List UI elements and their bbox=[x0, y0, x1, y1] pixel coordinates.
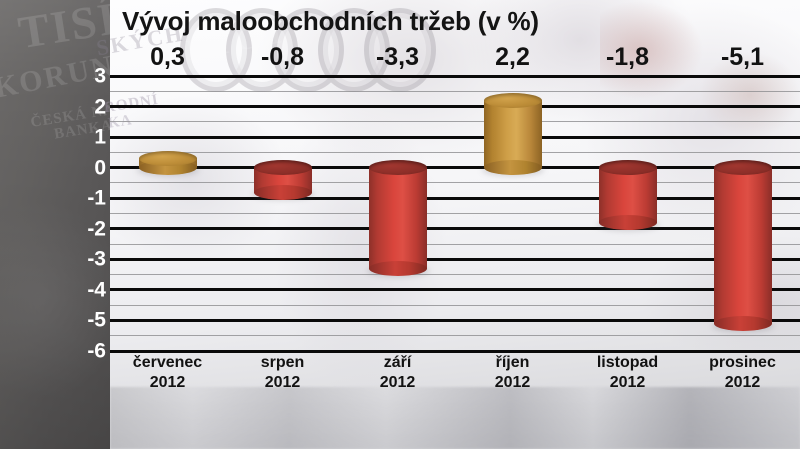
y-axis-tick-label: -1 bbox=[87, 188, 106, 209]
x-axis: červenec2012srpen2012září2012říjen2012li… bbox=[110, 353, 800, 409]
x-axis-category-month: červenec bbox=[133, 354, 202, 371]
bar-shadow bbox=[137, 164, 199, 176]
gridline-major bbox=[110, 319, 800, 322]
bar-cylinder-top-cap bbox=[484, 93, 542, 108]
gridline-major bbox=[110, 105, 800, 108]
bar bbox=[484, 93, 542, 175]
plot-area bbox=[110, 76, 800, 351]
bar-cylinder-bottom-cap bbox=[484, 160, 542, 175]
gridline-major bbox=[110, 197, 800, 200]
bar-shadow bbox=[597, 219, 659, 231]
data-label-row: 0,3-0,8-3,32,2-1,8-5,1 bbox=[110, 41, 800, 73]
x-axis-category-year: 2012 bbox=[110, 373, 225, 393]
x-axis-category: prosinec2012 bbox=[685, 353, 800, 409]
y-axis-tick-label: -3 bbox=[87, 249, 106, 270]
bar-cylinder-bottom-cap bbox=[369, 261, 427, 276]
data-label: -5,1 bbox=[685, 41, 800, 73]
y-axis-tick-label: -5 bbox=[87, 310, 106, 331]
data-label: -0,8 bbox=[225, 41, 340, 73]
bar-slot bbox=[110, 76, 225, 351]
bar-cylinder-body bbox=[369, 167, 427, 269]
bar-cylinder-bottom-cap bbox=[254, 185, 312, 200]
bar bbox=[139, 151, 197, 175]
gridline-major bbox=[110, 258, 800, 261]
bar-slot bbox=[570, 76, 685, 351]
data-label: -3,3 bbox=[340, 41, 455, 73]
y-axis-tick-label: -4 bbox=[87, 279, 106, 300]
bar bbox=[599, 160, 657, 230]
gridline-major bbox=[110, 227, 800, 230]
x-axis-category-month: prosinec bbox=[709, 354, 776, 371]
x-axis-category: srpen2012 bbox=[225, 353, 340, 409]
bar-shadow bbox=[482, 164, 544, 176]
x-axis-category-year: 2012 bbox=[340, 373, 455, 393]
gridline-minor bbox=[110, 213, 800, 214]
x-axis-category: září2012 bbox=[340, 353, 455, 409]
gridline-minor bbox=[110, 335, 800, 336]
gridline-minor bbox=[110, 152, 800, 153]
bar-cylinder-bottom-cap bbox=[599, 215, 657, 230]
bar-slot bbox=[225, 76, 340, 351]
bar bbox=[714, 160, 772, 331]
gridline-major bbox=[110, 166, 800, 169]
data-label: 2,2 bbox=[455, 41, 570, 73]
bar-cylinder-top-cap bbox=[254, 160, 312, 175]
x-axis-category-year: 2012 bbox=[455, 373, 570, 393]
gridline-minor bbox=[110, 182, 800, 183]
x-axis-category: říjen2012 bbox=[455, 353, 570, 409]
bar bbox=[254, 160, 312, 199]
x-axis-category-month: říjen bbox=[496, 354, 530, 371]
bar-cylinder-bottom-cap bbox=[714, 316, 772, 331]
bar-cylinder-body bbox=[484, 100, 542, 168]
bar-shadow bbox=[712, 320, 774, 332]
chart-screenshot: TISÍC KORUN ČESKÝCH ČESKÁ NÁRODNÍ BANKA … bbox=[0, 0, 800, 449]
bar-shadow bbox=[367, 265, 429, 277]
gridline-minor bbox=[110, 305, 800, 306]
gridline-minor bbox=[110, 274, 800, 275]
y-axis-tick-label: 0 bbox=[94, 157, 106, 178]
bar-cylinder-body bbox=[139, 158, 197, 168]
x-axis-category: červenec2012 bbox=[110, 353, 225, 409]
bar-slot bbox=[455, 76, 570, 351]
x-axis-category-year: 2012 bbox=[685, 373, 800, 393]
x-axis-category-month: srpen bbox=[261, 354, 305, 371]
bar-cylinder-top-cap bbox=[139, 151, 197, 166]
bar bbox=[369, 160, 427, 276]
y-axis-tick-label: 2 bbox=[94, 96, 106, 117]
bar-cylinder-bottom-cap bbox=[139, 160, 197, 175]
x-axis-category-month: září bbox=[384, 354, 412, 371]
gridline-minor bbox=[110, 121, 800, 122]
x-axis-category-year: 2012 bbox=[225, 373, 340, 393]
gridline-major bbox=[110, 288, 800, 291]
x-axis-category-year: 2012 bbox=[570, 373, 685, 393]
gridline-minor bbox=[110, 91, 800, 92]
chart-title: Vývoj maloobchodních tržeb (v %) bbox=[122, 6, 539, 37]
data-label: -1,8 bbox=[570, 41, 685, 73]
y-axis-tick-label: 3 bbox=[94, 66, 106, 87]
data-label: 0,3 bbox=[110, 41, 225, 73]
x-axis-category-month: listopad bbox=[597, 354, 658, 371]
bar-slot bbox=[685, 76, 800, 351]
y-axis-tick-label: -2 bbox=[87, 218, 106, 239]
x-axis-category: listopad2012 bbox=[570, 353, 685, 409]
bar-series bbox=[110, 76, 800, 351]
gridline-minor bbox=[110, 244, 800, 245]
y-axis: 3210-1-2-3-4-5-6 bbox=[56, 76, 106, 351]
y-axis-tick-label: -6 bbox=[87, 341, 106, 362]
bar-cylinder-top-cap bbox=[369, 160, 427, 175]
bar-cylinder-body bbox=[254, 167, 312, 192]
bar-slot bbox=[340, 76, 455, 351]
bar-cylinder-top-cap bbox=[714, 160, 772, 175]
bar-cylinder-body bbox=[599, 167, 657, 223]
gridline-major bbox=[110, 136, 800, 139]
bar-cylinder-top-cap bbox=[599, 160, 657, 175]
bar-shadow bbox=[252, 188, 314, 200]
bar-cylinder-body bbox=[714, 167, 772, 324]
y-axis-tick-label: 1 bbox=[94, 127, 106, 148]
